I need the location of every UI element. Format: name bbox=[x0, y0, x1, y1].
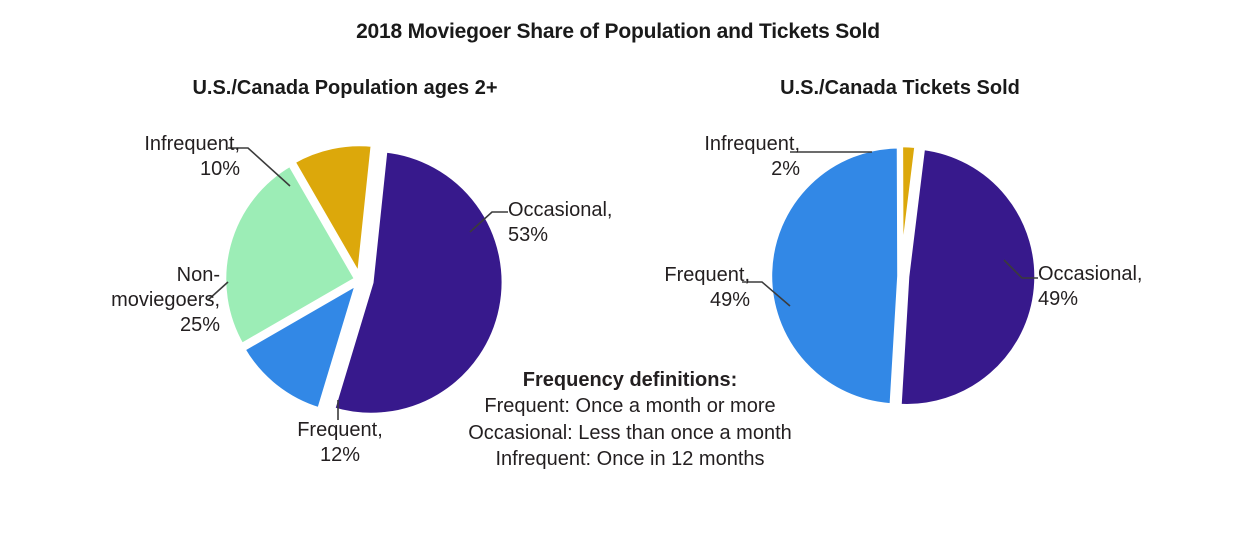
definition-occasional: Occasional: Less than once a month bbox=[400, 420, 860, 446]
definition-frequent: Frequent: Once a month or more bbox=[400, 393, 860, 419]
pie-slice-frequent bbox=[243, 283, 358, 410]
label-tickets-occasional: Occasional, 49% bbox=[1038, 262, 1236, 312]
definition-infrequent: Infrequent: Once in 12 months bbox=[400, 446, 860, 472]
frequency-definitions: Frequency definitions: Frequent: Once a … bbox=[400, 367, 860, 473]
label-population-non-moviegoers: Non- moviegoers, 25% bbox=[20, 263, 220, 338]
chart-subtitle-population: U.S./Canada Population ages 2+ bbox=[155, 75, 535, 101]
label-population-infrequent: Infrequent, 10% bbox=[30, 132, 240, 182]
label-tickets-frequent: Frequent, 49% bbox=[570, 263, 750, 313]
pie-slice-occasional bbox=[899, 148, 1037, 407]
label-tickets-infrequent: Infrequent, 2% bbox=[610, 132, 800, 182]
pie-slice-infrequent bbox=[293, 144, 373, 277]
pie-slice-infrequent bbox=[901, 145, 917, 275]
leader-line-right-occasional bbox=[1004, 260, 1038, 278]
leader-line-left-occasional bbox=[470, 212, 508, 232]
pie-slice-non-moviegoers bbox=[224, 164, 357, 346]
chart-subtitle-tickets: U.S./Canada Tickets Sold bbox=[755, 75, 1045, 101]
definitions-heading: Frequency definitions: bbox=[400, 367, 860, 393]
label-population-occasional: Occasional, 53% bbox=[508, 198, 738, 248]
chart-canvas: 2018 Moviegoer Share of Population and T… bbox=[0, 0, 1236, 542]
page-title: 2018 Moviegoer Share of Population and T… bbox=[0, 20, 1236, 44]
